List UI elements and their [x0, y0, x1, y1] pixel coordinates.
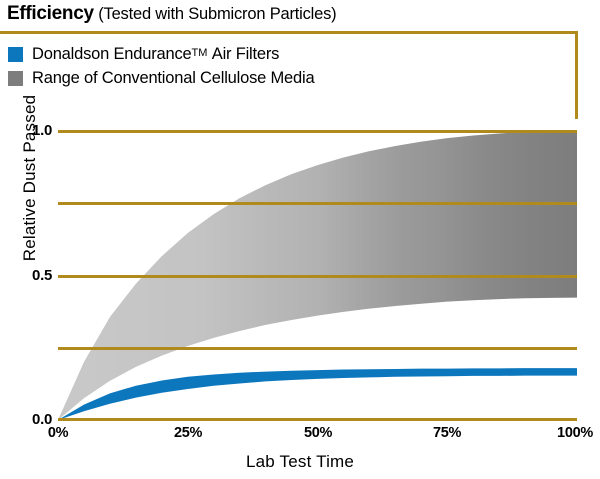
- gridline-0-75: [58, 202, 577, 205]
- legend-item-cellulose: Range of Conventional Cellulose Media: [8, 70, 314, 87]
- donaldson-band: [58, 368, 577, 420]
- gridline-1-0: [58, 130, 577, 133]
- y-axis-title: Relative Dust Passed: [20, 53, 40, 303]
- x-tick-label-50: 50%: [304, 425, 332, 441]
- x-axis-title: Lab Test Time: [0, 452, 600, 472]
- legend-label-cellulose: Range of Conventional Cellulose Media: [32, 70, 314, 87]
- page-title: Efficiency (Tested with Submicron Partic…: [7, 4, 336, 23]
- legend-label-donaldson: Donaldson EnduranceTM Air Filters: [32, 46, 279, 63]
- legend: Donaldson EnduranceTM Air Filters Range …: [0, 31, 578, 119]
- x-axis-line: [58, 418, 577, 421]
- x-tick-label-100: 100%: [557, 425, 593, 441]
- x-axis-ticks: 0% 25% 50% 75% 100%: [0, 425, 600, 447]
- gridline-0-25: [58, 347, 577, 350]
- x-tick-label-75: 75%: [433, 425, 461, 441]
- legend-label-donaldson-pre: Donaldson Endurance: [32, 45, 191, 63]
- x-tick-label-0: 0%: [48, 425, 68, 441]
- x-tick-label-25: 25%: [174, 425, 202, 441]
- plot-area: [58, 130, 577, 420]
- trademark-symbol: TM: [191, 47, 207, 59]
- title-subtitle: (Tested with Submicron Particles): [98, 5, 336, 23]
- efficiency-chart: Efficiency (Tested with Submicron Partic…: [0, 0, 600, 479]
- legend-label-donaldson-post: Air Filters: [212, 45, 279, 63]
- gridline-0-5: [58, 275, 577, 278]
